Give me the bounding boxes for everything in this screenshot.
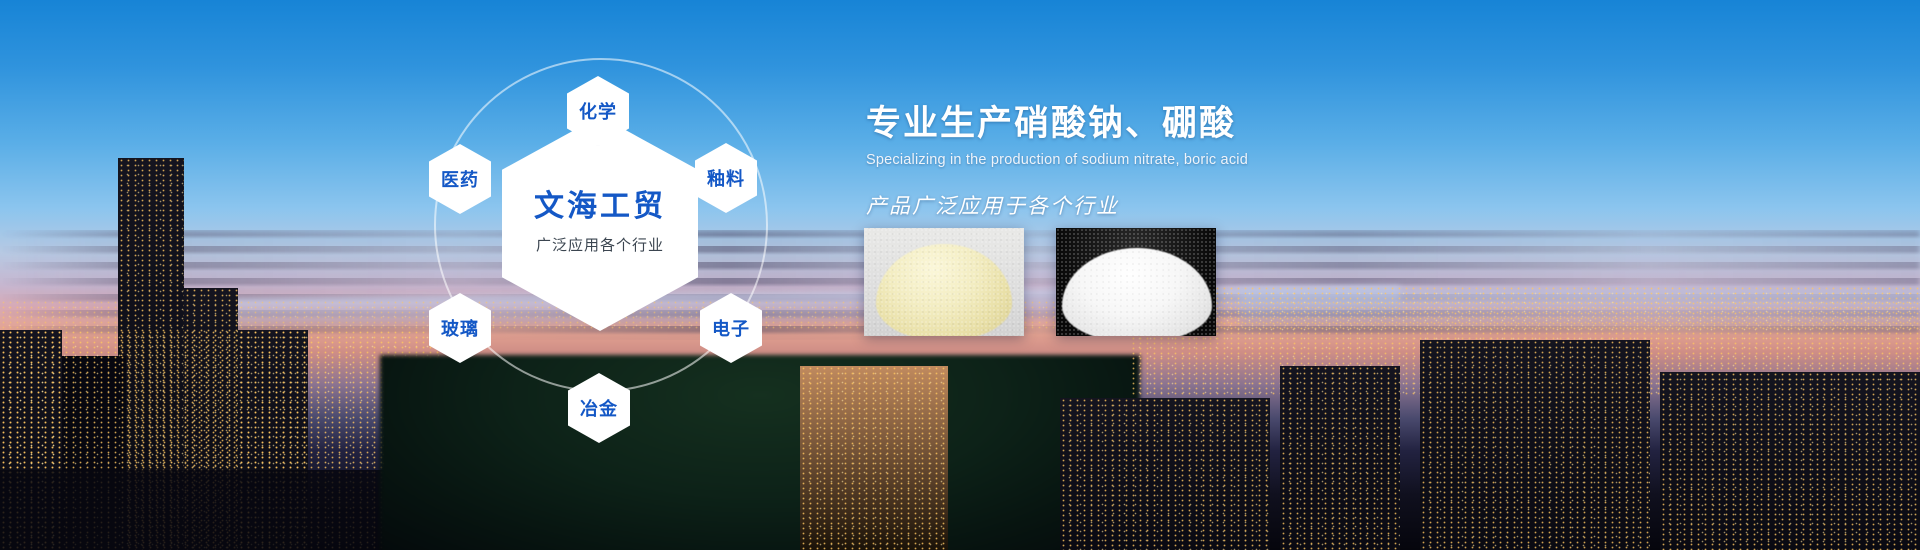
tower-right-wide [1060, 398, 1270, 550]
headline-block: 专业生产硝酸钠、硼酸 Specializing in the productio… [866, 104, 1506, 220]
river-band-right [1240, 288, 1920, 330]
tower-right-edge [1660, 372, 1920, 550]
hex-label-electronics: 电子 [712, 315, 750, 341]
headline-english: Specializing in the production of sodium… [866, 152, 1506, 168]
industry-hex-diagram: 文海工贸 广泛应用各个行业 化学 釉料 电子 冶金 玻璃 医药 [420, 28, 780, 448]
promo-banner: 文海工贸 广泛应用各个行业 化学 釉料 电子 冶金 玻璃 医药 专业生产硝酸钠、… [0, 0, 1920, 550]
product-photo-sodium-nitrate[interactable] [864, 228, 1024, 336]
product-photo-boric-acid[interactable] [1056, 228, 1216, 336]
powder-grain-texture [864, 228, 1024, 336]
hex-label-glass: 玻璃 [441, 315, 479, 341]
foreground-dark-left [0, 470, 420, 550]
hex-label-metallurgy: 冶金 [580, 395, 618, 421]
tagline-chinese: 产品广泛应用于各个行业 [866, 190, 1506, 220]
company-name: 文海工贸 [534, 192, 666, 222]
tower-right-far [1420, 340, 1650, 550]
headline-chinese: 专业生产硝酸钠、硼酸 [866, 104, 1506, 144]
tower-right-mid [1280, 366, 1400, 550]
hex-label-glaze: 釉料 [707, 165, 745, 191]
powder-grain-texture [1056, 228, 1216, 336]
hex-label-chemistry: 化学 [579, 98, 617, 124]
company-tagline: 广泛应用各个行业 [536, 234, 664, 255]
tower-foreground-center [800, 366, 948, 550]
product-photo-row [864, 228, 1216, 336]
hex-label-pharmacy: 医药 [441, 166, 479, 192]
